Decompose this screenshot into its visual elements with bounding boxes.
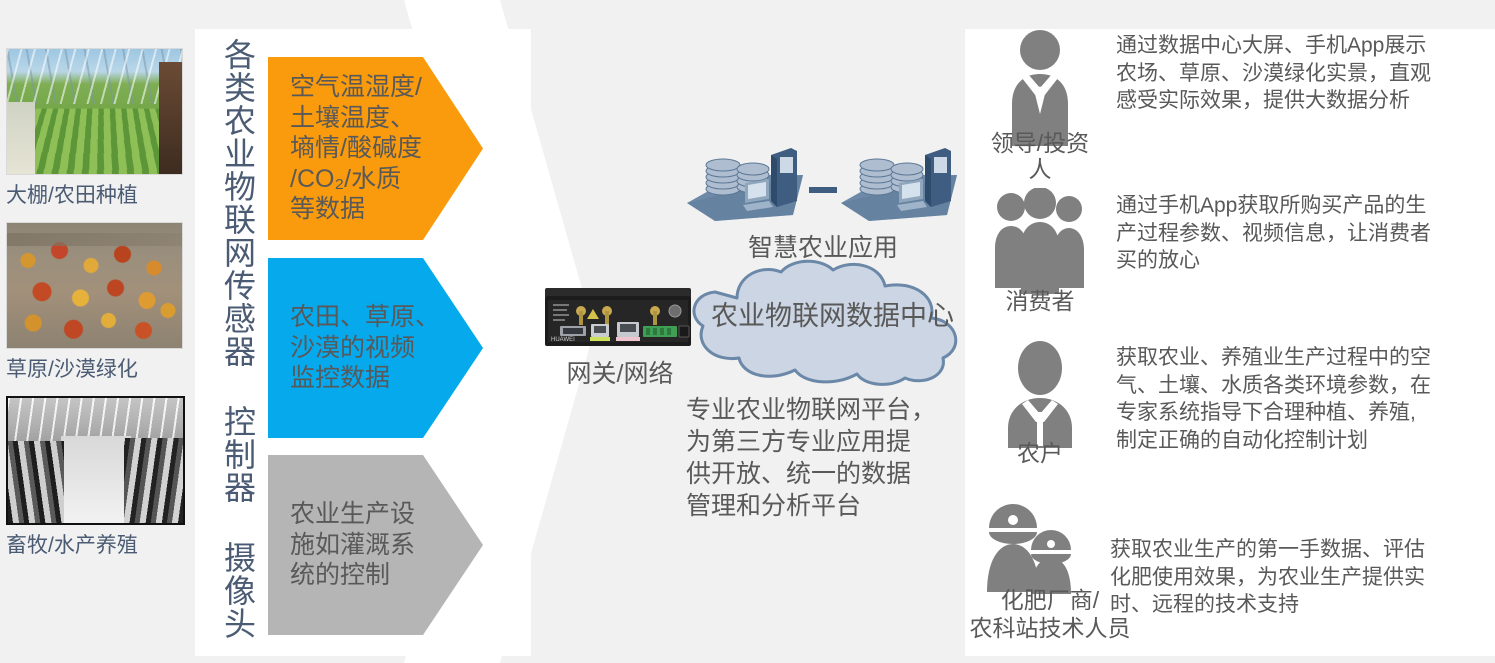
persona-label: 领导/投资人 <box>980 130 1100 183</box>
video-data-arrow[interactable]: 农田、草原、 沙漠的视频 监控数据 <box>268 258 483 438</box>
livestock-barn-photo <box>6 396 185 525</box>
thumbnail-caption: 畜牧/水产养殖 <box>0 525 195 563</box>
persona-description: 通过手机App获取所购买产品的生 产过程参数、视频信息，让消费者 买的放心 <box>1116 188 1461 294</box>
video-data-arrow-label: 农田、草原、 沙漠的视频 监控数据 <box>268 302 440 394</box>
persona-row: 通过手机App获取所购买产品的生 产过程参数、视频信息，让消费者 买的放心 <box>980 188 1461 294</box>
persona-description: 获取农业生产的第一手数据、评估 化肥使用效果，为农业生产提供实 时、远程的技术支… <box>1110 498 1455 619</box>
persona-description: 通过数据中心大屏、手机App展示 农场、草原、沙漠绿化实景，直观 感受实际效果，… <box>1116 28 1461 146</box>
two-workers-icon <box>975 498 1085 598</box>
control-data-arrow-label: 农业生产设 施如灌溉系 统的控制 <box>268 499 415 591</box>
diagram-canvas: 大棚/农田种植 草原/沙漠绿化 畜牧/水产养殖 各类农业物联网传感器 控制器 摄… <box>0 0 1495 663</box>
platform-description: 专业农业物联网平台， 为第三方专业应用提 供开放、统一的数据 管理和分析平台 <box>686 394 951 522</box>
persona-label: 消费者 <box>980 288 1100 314</box>
persona-label: 农户 <box>980 440 1100 466</box>
executive-person-icon <box>998 28 1082 146</box>
sensor-data-arrow-label: 空气温湿度/ 土壤温度、 墒情/酸碱度 /CO₂/水质 等数据 <box>268 72 422 225</box>
sensors-vertical-heading: 各类农业物联网传感器 控制器 摄像头 <box>208 38 254 648</box>
smart-agriculture-servers-icon <box>685 143 960 238</box>
list-item: 大棚/农田种植 <box>0 48 195 213</box>
persona-row: 通过数据中心大屏、手机App展示 农场、草原、沙漠绿化实景，直观 感受实际效果，… <box>980 28 1461 146</box>
grassland-desert-photo <box>6 222 183 349</box>
sensor-data-arrow[interactable]: 空气温湿度/ 土壤温度、 墒情/酸碱度 /CO₂/水质 等数据 <box>268 57 483 240</box>
thumbnail-caption: 草原/沙漠绿化 <box>0 349 195 387</box>
control-data-arrow[interactable]: 农业生产设 施如灌溉系 统的控制 <box>268 455 483 635</box>
farmer-person-icon <box>998 340 1082 448</box>
persona-label: 化肥厂商/ 农科站技术人员 <box>950 586 1150 642</box>
list-item: 草原/沙漠绿化 <box>0 222 195 387</box>
list-item: 畜牧/水产养殖 <box>0 396 195 563</box>
source-scenes-column: 大棚/农田种植 草原/沙漠绿化 畜牧/水产养殖 <box>0 48 195 572</box>
persona-description: 获取农业、养殖业生产过程中的空 气、土壤、水质各类环境参数，在 专家系统指导下合… <box>1116 340 1461 455</box>
svg-text:HUAWEI: HUAWEI <box>551 337 575 343</box>
three-people-icon <box>992 188 1088 294</box>
persona-row: 获取农业、养殖业生产过程中的空 气、土壤、水质各类环境参数，在 专家系统指导下合… <box>980 340 1461 455</box>
data-center-cloud-label: 农业物联网数据中心 <box>700 294 965 333</box>
thumbnail-caption: 大棚/农田种植 <box>0 175 195 213</box>
greenhouse-photo <box>6 48 183 175</box>
